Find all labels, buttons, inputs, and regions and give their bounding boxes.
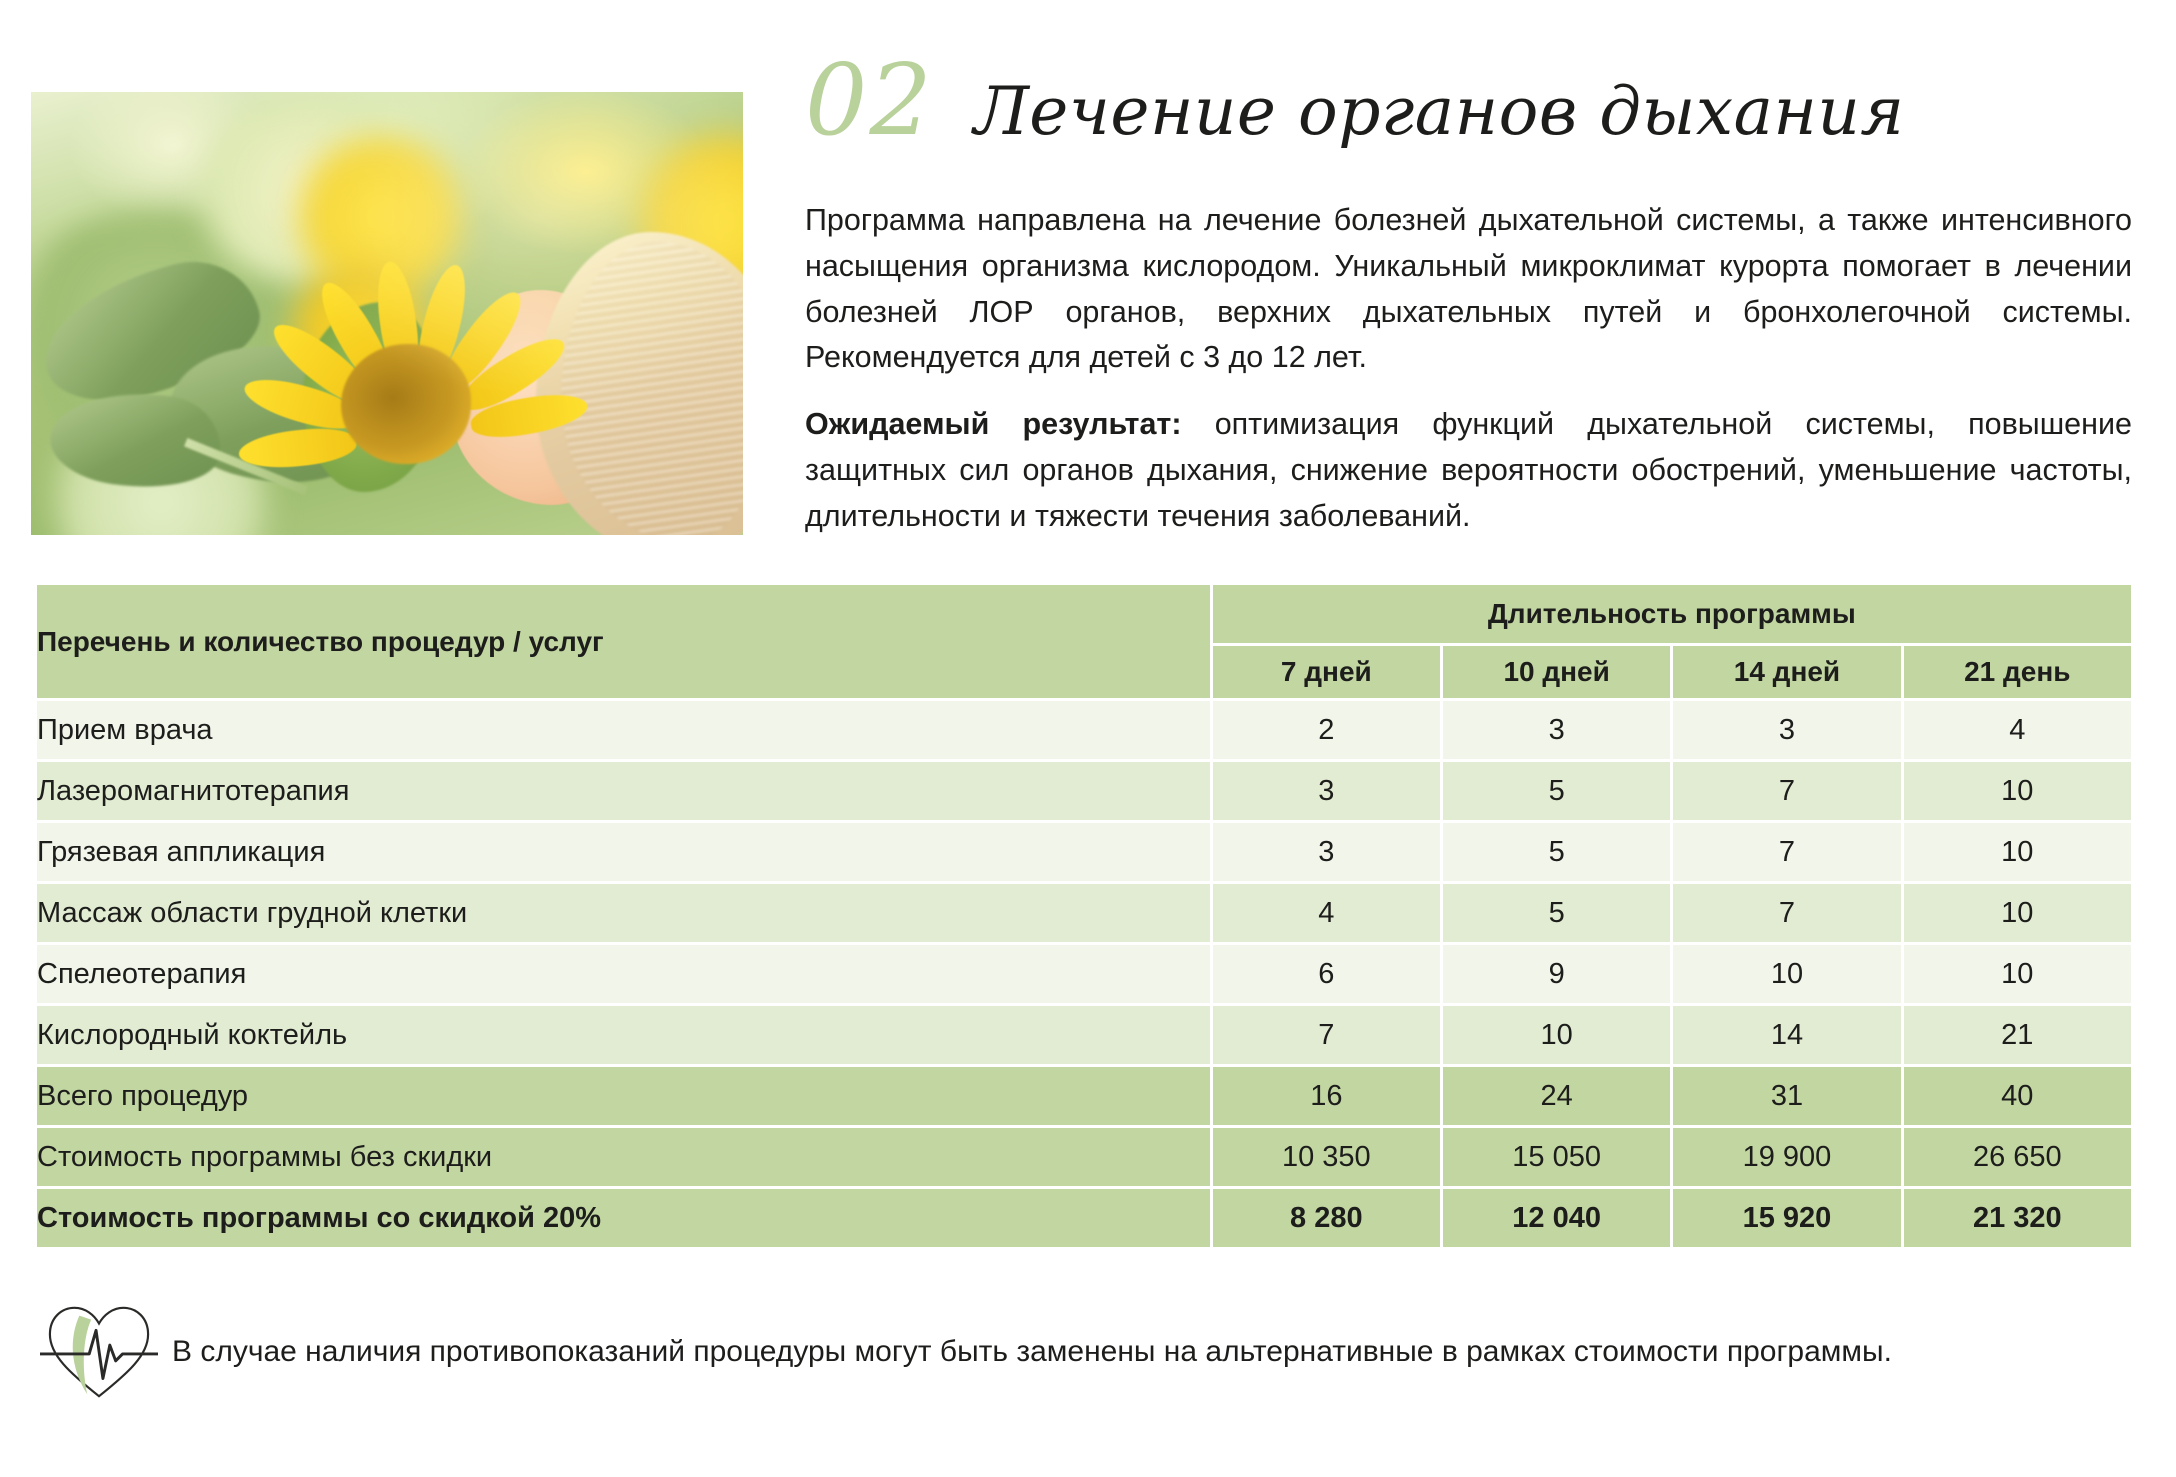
table-cell-value: 10: [1904, 884, 2131, 942]
table-cell-service-name: Лазеромагнитотерапия: [37, 762, 1210, 820]
photo-sunflower-disc: [341, 344, 471, 464]
sunflower-photo: [31, 92, 743, 535]
section-header: 02 Лечение органов дыхания: [805, 52, 1905, 150]
table-cell-value: 8 280: [1213, 1189, 1440, 1247]
table-header-duration-group: Длительность программы: [1213, 585, 2131, 643]
intro-paragraph-text: Программа направлена на лечение болезней…: [805, 203, 2132, 374]
table-cell-service-name: Всего процедур: [37, 1067, 1210, 1125]
table-row: Прием врача2334: [37, 701, 2131, 759]
table-cell-value: 14: [1673, 1006, 1900, 1064]
table-cell-value: 24: [1443, 1067, 1670, 1125]
table-cell-value: 7: [1673, 823, 1900, 881]
table-cell-value: 2: [1213, 701, 1440, 759]
table-cell-value: 26 650: [1904, 1128, 2131, 1186]
table-cell-value: 40: [1904, 1067, 2131, 1125]
table-cell-value: 10 350: [1213, 1128, 1440, 1186]
table-cell-value: 3: [1213, 823, 1440, 881]
table-row: Всего процедур16243140: [37, 1067, 2131, 1125]
table-row: Стоимость программы без скидки10 35015 0…: [37, 1128, 2131, 1186]
table-cell-value: 7: [1673, 762, 1900, 820]
table-cell-service-name: Грязевая аппликация: [37, 823, 1210, 881]
table-cell-value: 4: [1213, 884, 1440, 942]
table-header-col-0: 7 дней: [1213, 646, 1440, 698]
table-cell-value: 5: [1443, 762, 1670, 820]
table-cell-value: 7: [1213, 1006, 1440, 1064]
expected-result-paragraph: Ожидаемый результат: оптимизация функций…: [805, 402, 2132, 539]
table-cell-value: 4: [1904, 701, 2131, 759]
table-cell-service-name: Стоимость программы со скидкой 20%: [37, 1189, 1210, 1247]
heart-pulse-icon: [40, 1298, 158, 1406]
table-cell-value: 31: [1673, 1067, 1900, 1125]
intro-paragraph: Программа направлена на лечение болезней…: [805, 198, 2132, 381]
table-header-col-2: 14 дней: [1673, 646, 1900, 698]
table-row: Массаж области грудной клетки45710: [37, 884, 2131, 942]
table-cell-value: 9: [1443, 945, 1670, 1003]
section-number: 02: [805, 52, 934, 150]
table-head: Перечень и количество процедур / услуг Д…: [37, 585, 2131, 698]
table-cell-value: 21 320: [1904, 1189, 2131, 1247]
table-cell-value: 3: [1443, 701, 1670, 759]
table-body: Прием врача2334Лазеромагнитотерапия35710…: [37, 701, 2131, 1247]
table-cell-service-name: Прием врача: [37, 701, 1210, 759]
table-header-col-1: 10 дней: [1443, 646, 1670, 698]
table-cell-value: 15 050: [1443, 1128, 1670, 1186]
table-cell-service-name: Массаж области грудной клетки: [37, 884, 1210, 942]
page-title: Лечение органов дыхания: [974, 79, 1905, 145]
table-header-col-3: 21 день: [1904, 646, 2131, 698]
table-cell-value: 5: [1443, 884, 1670, 942]
program-table: Перечень и количество процедур / услуг Д…: [34, 582, 2134, 1250]
table-cell-value: 6: [1213, 945, 1440, 1003]
table-cell-value: 3: [1213, 762, 1440, 820]
expected-result-label: Ожидаемый результат:: [805, 407, 1182, 441]
table-row: Грязевая аппликация35710: [37, 823, 2131, 881]
table-header-name: Перечень и количество процедур / услуг: [37, 585, 1210, 698]
table-cell-value: 15 920: [1673, 1189, 1900, 1247]
table-row: Лазеромагнитотерапия35710: [37, 762, 2131, 820]
photo-sunflower: [289, 232, 539, 522]
table-cell-value: 10: [1904, 762, 2131, 820]
table-cell-service-name: Кислородный коктейль: [37, 1006, 1210, 1064]
footer-note: В случае наличия противопоказаний процед…: [34, 1297, 2144, 1407]
table-cell-value: 7: [1673, 884, 1900, 942]
table-cell-value: 19 900: [1673, 1128, 1900, 1186]
table-row: Спелеотерапия691010: [37, 945, 2131, 1003]
table-row: Стоимость программы со скидкой 20%8 2801…: [37, 1189, 2131, 1247]
table-cell-value: 3: [1673, 701, 1900, 759]
table-cell-value: 10: [1904, 823, 2131, 881]
table-cell-service-name: Стоимость программы без скидки: [37, 1128, 1210, 1186]
table-cell-value: 10: [1443, 1006, 1670, 1064]
table-cell-value: 10: [1904, 945, 2131, 1003]
table-cell-value: 5: [1443, 823, 1670, 881]
table-cell-value: 10: [1673, 945, 1900, 1003]
table-cell-value: 21: [1904, 1006, 2131, 1064]
brochure-page: 02 Лечение органов дыхания Программа нап…: [0, 0, 2176, 1477]
table-cell-value: 16: [1213, 1067, 1440, 1125]
table-cell-service-name: Спелеотерапия: [37, 945, 1210, 1003]
table-row: Кислородный коктейль7101421: [37, 1006, 2131, 1064]
footer-note-text: В случае наличия противопоказаний процед…: [172, 1335, 1892, 1369]
table-header-row-group: Перечень и количество процедур / услуг Д…: [37, 585, 2131, 643]
table-cell-value: 12 040: [1443, 1189, 1670, 1247]
